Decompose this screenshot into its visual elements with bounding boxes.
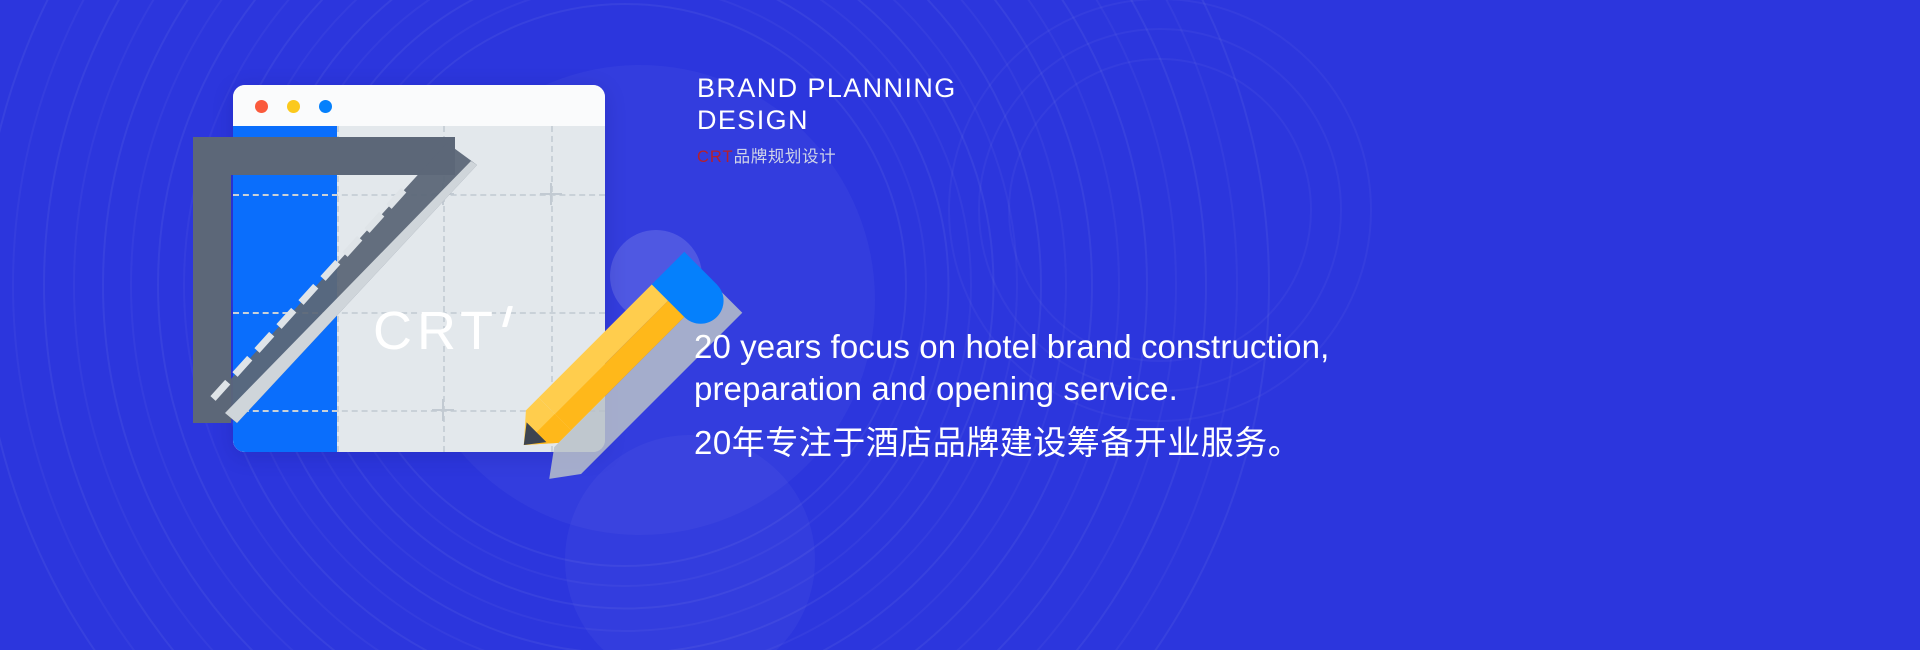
tagline-english: 20 years focus on hotel brand constructi…	[694, 326, 1394, 410]
tagline-chinese: 20年专注于酒店品牌建设筹备开业服务。	[694, 422, 1394, 463]
set-square-ruler-icon	[185, 125, 485, 425]
headline-block: BRAND PLANNING DESIGN CRT品牌规划设计	[697, 72, 1257, 167]
brand-name: CRT	[697, 148, 734, 166]
brand-illustration: CRT	[185, 60, 705, 480]
close-dot	[255, 100, 268, 113]
maximize-dot	[319, 100, 332, 113]
brand-banner: CRT	[0, 0, 1920, 650]
crosshair-marker	[540, 183, 562, 205]
tagline-block: 20 years focus on hotel brand constructi…	[694, 326, 1394, 463]
minimize-dot	[287, 100, 300, 113]
window-title-bar	[233, 85, 605, 126]
page-title: BRAND PLANNING DESIGN	[697, 72, 1257, 136]
headline-subtitle: CRT品牌规划设计	[697, 143, 1257, 167]
headline-subtitle-cn: 品牌规划设计	[734, 148, 837, 166]
